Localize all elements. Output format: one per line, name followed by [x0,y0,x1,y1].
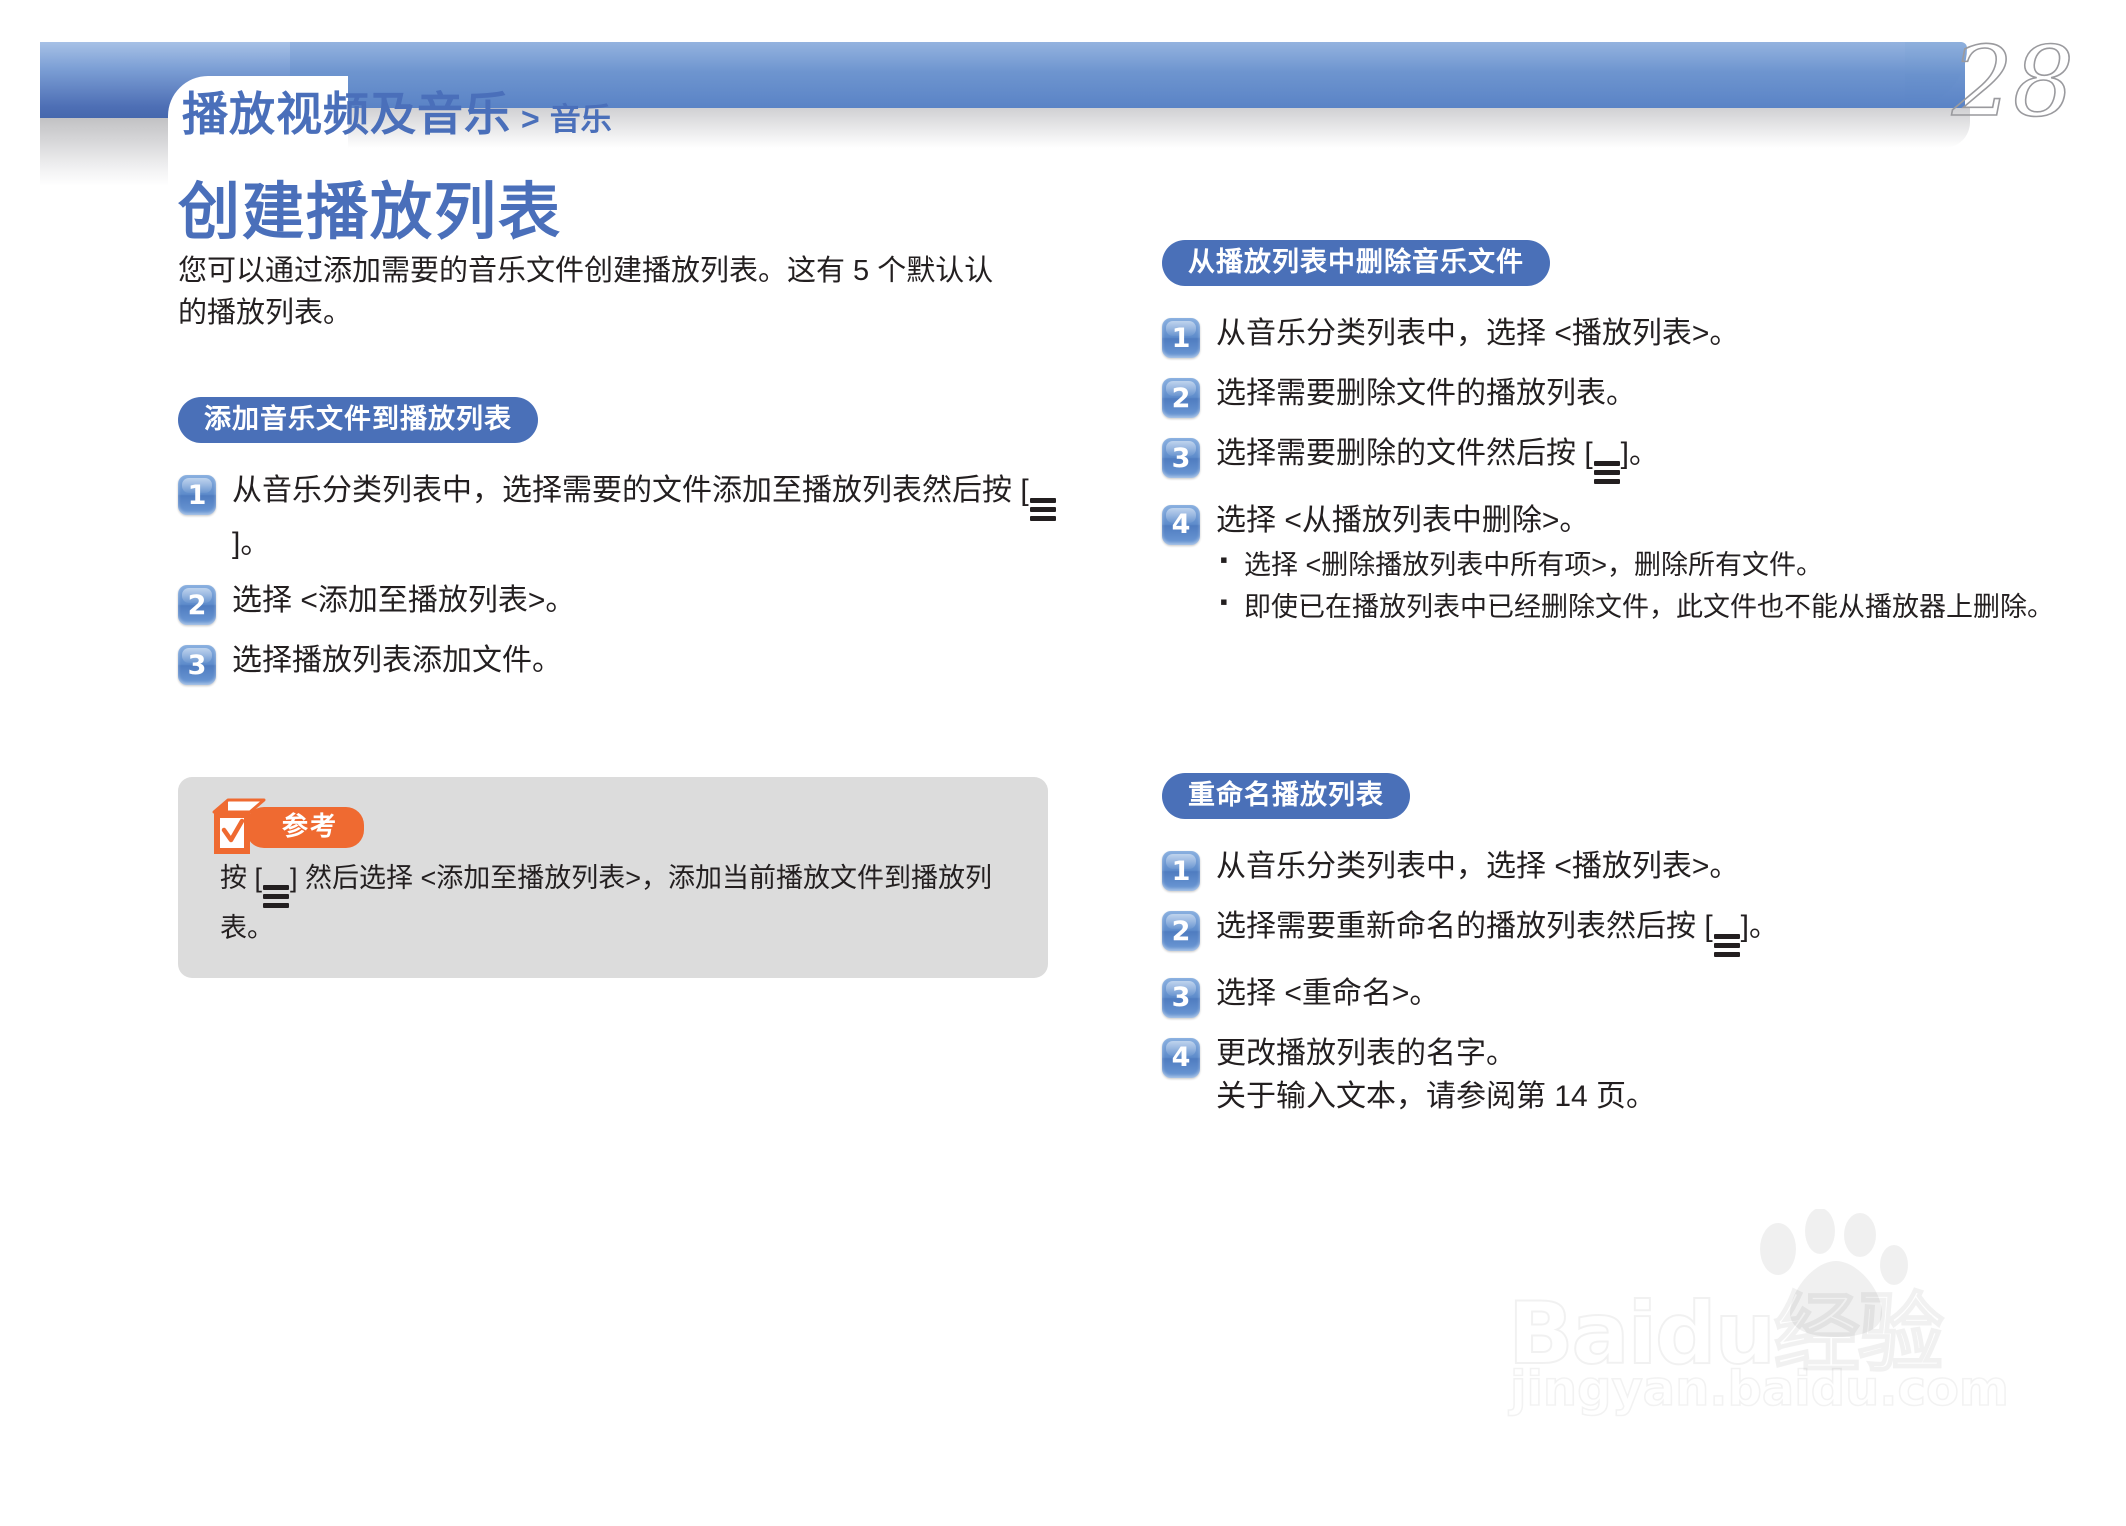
step-item: 4 更改播放列表的名字。 关于输入文本，请参阅第 14 页。 [1162,1032,2062,1119]
note-header: 参考 [212,803,1014,851]
note-text: 按 [] 然后选择 <添加至播放列表>，添加当前播放文件到播放列表。 [212,859,1014,948]
step-item: 3 选择需要删除的文件然后按 []。 [1162,432,2062,485]
step-number-badge: 3 [1162,438,1200,478]
step-number-badge: 1 [1162,851,1200,891]
step-sub-list: 选择 <删除播放列表中所有项>，删除所有文件。 即使已在播放列表中已经删除文件，… [1216,546,2062,626]
baidu-watermark: Baidu经验 jingyan.baidu.com [1500,1215,2020,1435]
step-text-before: 选择需要删除的文件然后按 [ [1216,437,1593,470]
left-column: 创建播放列表 您可以通过添加需要的音乐文件创建播放列表。这有 5 个默认认的播放… [178,178,1058,978]
page-number: 28 [1952,34,2074,130]
step-text-after: ]。 [1621,437,1659,470]
step-text: 选择需要重新命名的播放列表然后按 []。 [1216,905,2062,958]
step-text: 更改播放列表的名字。 关于输入文本，请参阅第 14 页。 [1216,1032,2062,1119]
step-text-main: 选择 <从播放列表中删除>。 [1216,504,1589,537]
menu-key-icon [1594,461,1620,485]
menu-key-icon [1030,498,1056,522]
step-number-badge: 1 [178,475,216,515]
step-text: 选择播放列表添加文件。 [232,639,1058,683]
section-pill-rename-playlist: 重命名播放列表 [1162,773,1410,819]
steps-delete-music: 1 从音乐分类列表中，选择 <播放列表>。 2 选择需要删除文件的播放列表。 3… [1162,312,2062,629]
check-box-icon [212,798,266,856]
breadcrumb-main: 播放视频及音乐 [182,78,511,144]
step-text: 选择 <重命名>。 [1216,972,2062,1016]
intro-paragraph: 您可以通过添加需要的音乐文件创建播放列表。这有 5 个默认认的播放列表。 [178,251,1018,335]
paw-icon [1748,1209,1908,1344]
step-item: 4 选择 <从播放列表中删除>。 选择 <删除播放列表中所有项>，删除所有文件。… [1162,499,2062,629]
step-item: 2 选择需要删除文件的播放列表。 [1162,372,2062,418]
note-box: 参考 按 [] 然后选择 <添加至播放列表>，添加当前播放文件到播放列表。 [178,777,1048,978]
sub-list-item: 选择 <删除播放列表中所有项>，删除所有文件。 [1216,546,2062,584]
step-item: 2 选择需要重新命名的播放列表然后按 []。 [1162,905,2062,958]
steps-rename-playlist: 1 从音乐分类列表中，选择 <播放列表>。 2 选择需要重新命名的播放列表然后按… [1162,845,2062,1119]
step-text: 从音乐分类列表中，选择 <播放列表>。 [1216,312,2062,356]
step-number-badge: 4 [1162,1038,1200,1078]
step-number-badge: 2 [1162,378,1200,418]
step-item: 2 选择 <添加至播放列表>。 [178,579,1058,625]
note-text-before: 按 [ [220,863,262,893]
right-column: 从播放列表中删除音乐文件 1 从音乐分类列表中，选择 <播放列表>。 2 选择需… [1162,240,2062,1133]
step-item: 1 从音乐分类列表中，选择 <播放列表>。 [1162,312,2062,358]
page-title: 创建播放列表 [178,178,1058,247]
step-extra-text: 关于输入文本，请参阅第 14 页。 [1216,1075,2062,1119]
step-text: 从音乐分类列表中，选择 <播放列表>。 [1216,845,2062,889]
step-item: 3 选择 <重命名>。 [1162,972,2062,1018]
step-number-badge: 2 [1162,911,1200,951]
step-number-badge: 2 [178,585,216,625]
step-text: 从音乐分类列表中，选择需要的文件添加至播放列表然后按 []。 [232,469,1058,565]
step-number-badge: 3 [178,645,216,685]
step-text-after: ]。 [1741,910,1779,943]
step-text-before: 从音乐分类列表中，选择需要的文件添加至播放列表然后按 [ [232,474,1029,507]
sub-list-item: 即使已在播放列表中已经删除文件，此文件也不能从播放器上删除。 [1216,588,2062,626]
page-header: 播放视频及音乐 > 音乐 28 [0,0,2126,180]
step-text-main: 更改播放列表的名字。 [1216,1037,1516,1070]
step-number-badge: 3 [1162,978,1200,1018]
step-text-after: ]。 [232,527,270,560]
steps-add-music: 1 从音乐分类列表中，选择需要的文件添加至播放列表然后按 []。 2 选择 <添… [178,469,1058,685]
menu-key-icon [263,885,289,909]
watermark-url: jingyan.baidu.com [1510,1361,2009,1417]
watermark-brand: Baidu经验 [1508,1263,1942,1388]
step-text: 选择 <添加至播放列表>。 [232,579,1058,623]
step-item: 3 选择播放列表添加文件。 [178,639,1058,685]
step-text: 选择需要删除的文件然后按 []。 [1216,432,2062,485]
breadcrumb: 播放视频及音乐 > 音乐 [182,78,612,144]
step-item: 1 从音乐分类列表中，选择需要的文件添加至播放列表然后按 []。 [178,469,1058,565]
section-pill-add-music: 添加音乐文件到播放列表 [178,397,538,443]
section-pill-delete-music: 从播放列表中删除音乐文件 [1162,240,1550,286]
menu-key-icon [1714,934,1740,958]
step-item: 1 从音乐分类列表中，选择 <播放列表>。 [1162,845,2062,891]
note-text-after: ] 然后选择 <添加至播放列表>，添加当前播放文件到播放列表。 [220,863,992,943]
step-number-badge: 4 [1162,505,1200,545]
step-number-badge: 1 [1162,318,1200,358]
breadcrumb-sub: 音乐 [550,94,612,139]
step-text: 选择 <从播放列表中删除>。 选择 <删除播放列表中所有项>，删除所有文件。 即… [1216,499,2062,629]
step-text: 选择需要删除文件的播放列表。 [1216,372,2062,416]
step-text-before: 选择需要重新命名的播放列表然后按 [ [1216,910,1713,943]
breadcrumb-separator-icon: > [521,101,540,138]
